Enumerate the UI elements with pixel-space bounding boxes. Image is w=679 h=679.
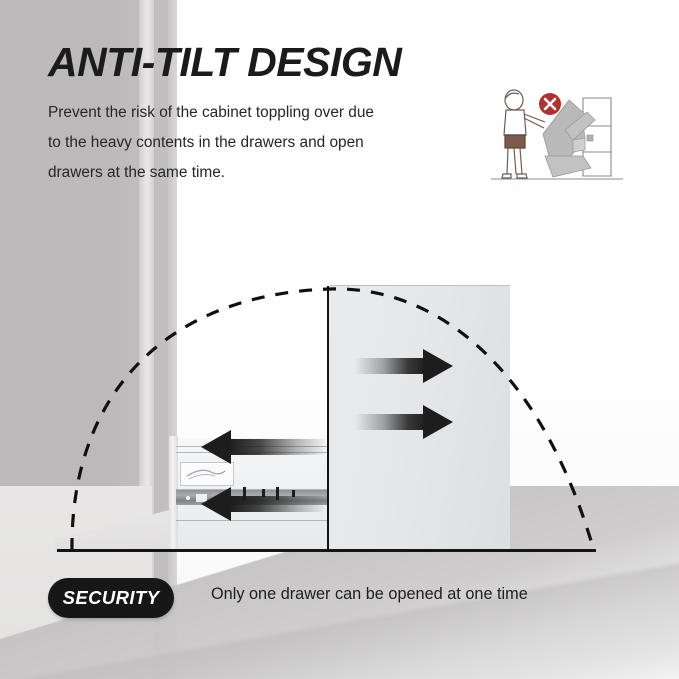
arrow-tail <box>355 414 429 430</box>
description-line-1: Prevent the risk of the cabinet toppling… <box>48 98 448 128</box>
person-figure <box>502 90 545 178</box>
pull-arrow-left-lower <box>201 487 327 521</box>
status-badge: SECURITY <box>48 578 174 618</box>
force-arrow-right-upper <box>355 349 453 383</box>
arrow-head <box>423 405 453 439</box>
rail-dot <box>186 496 190 500</box>
arrow-tail <box>227 439 327 455</box>
page-description: Prevent the risk of the cabinet toppling… <box>48 98 448 188</box>
ground-line <box>57 549 596 552</box>
anti-tilt-design-infographic: ANTI-TILT DESIGN Prevent the risk of the… <box>0 0 679 679</box>
force-arrow-right-lower <box>355 405 453 439</box>
arrow-head <box>423 349 453 383</box>
badge-label: SECURITY <box>63 587 160 609</box>
cabinet-left-edge <box>327 286 329 550</box>
description-line-2: to the heavy contents in the drawers and… <box>48 128 448 158</box>
footer-caption: Only one drawer can be opened at one tim… <box>211 585 528 604</box>
red-circle-x-icon <box>539 93 561 115</box>
arrow-tail <box>355 358 429 374</box>
pull-arrow-left-upper <box>201 430 327 464</box>
warning-illustration <box>487 78 627 188</box>
arrow-head <box>201 430 231 464</box>
arrow-tail <box>227 496 327 512</box>
arrow-head <box>201 487 231 521</box>
description-line-3: drawers at the same time. <box>48 158 448 188</box>
cabinet-top-edge <box>330 285 510 286</box>
page-title: ANTI-TILT DESIGN <box>48 39 401 86</box>
drawer-slide-label <box>180 462 234 486</box>
